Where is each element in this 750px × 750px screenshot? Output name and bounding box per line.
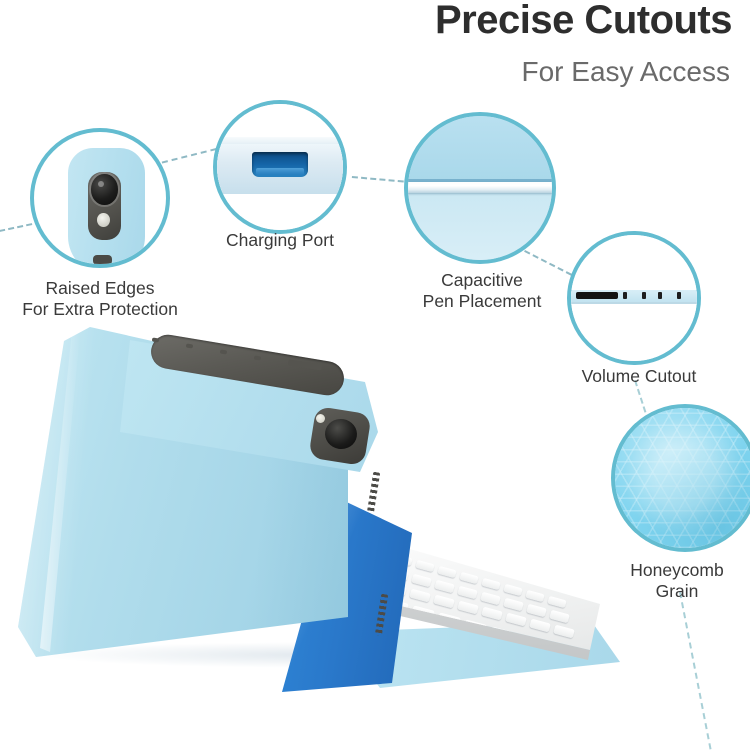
callout-label-raised-edges: Raised Edges For Extra Protection (0, 278, 200, 321)
keyboard-key (503, 598, 524, 612)
callout-label-charging-port: Charging Port (197, 230, 363, 251)
keyboard-key (503, 584, 522, 596)
keyboard-key (415, 560, 434, 572)
callout-bubble-charging-port (213, 100, 347, 234)
case-edge-highlight (217, 137, 343, 145)
product-photo (0, 322, 640, 722)
capacitive-pen-graphic (405, 182, 555, 194)
keyboard-key (457, 586, 478, 600)
connector-dash-2 (152, 148, 217, 166)
volume-notch-icon (677, 292, 681, 298)
callout-bubble-raised-edges (30, 128, 170, 268)
product-infographic: Precise Cutouts For Easy Access Raised E… (0, 0, 750, 750)
keyboard-key (434, 580, 455, 594)
page-title: Precise Cutouts (435, 0, 732, 43)
volume-notch-icon (658, 292, 662, 298)
keyboard-key (411, 574, 432, 588)
keyboard-key (525, 590, 544, 602)
keyboard-key (529, 619, 551, 633)
keyboard-key (437, 566, 456, 578)
callout-bubble-capacitive-pen (404, 112, 556, 264)
connector-dash-6 (679, 592, 711, 749)
connector-dash-3 (352, 176, 404, 183)
volume-notch-icon (623, 292, 627, 298)
camera-notch-graphic (93, 255, 111, 266)
volume-notch-icon (642, 292, 646, 298)
keyboard-key (457, 601, 479, 615)
speaker-grille-icon (367, 472, 380, 515)
volume-button-icon (576, 292, 618, 299)
keyboard-key (549, 610, 570, 624)
keyboard-key (459, 572, 478, 584)
camera-flash-icon (316, 414, 325, 423)
keyboard-key (481, 578, 500, 590)
keyboard-key (553, 625, 575, 639)
keyboard-key (481, 607, 503, 621)
keyboard-key (526, 604, 547, 618)
case-side-edge-line (571, 302, 697, 304)
keyboard-key (505, 613, 527, 627)
page-subtitle: For Easy Access (521, 56, 730, 88)
keyboard-key (433, 595, 455, 609)
keyboard-key (480, 592, 501, 606)
keyboard-key (409, 589, 431, 603)
camera-flash-icon (97, 213, 110, 228)
callout-label-capacitive-pen: Capacitive Pen Placement (396, 270, 568, 313)
keyboard-key (547, 596, 566, 608)
camera-lens-icon (91, 174, 117, 204)
charging-port-cutout-icon (252, 152, 307, 177)
